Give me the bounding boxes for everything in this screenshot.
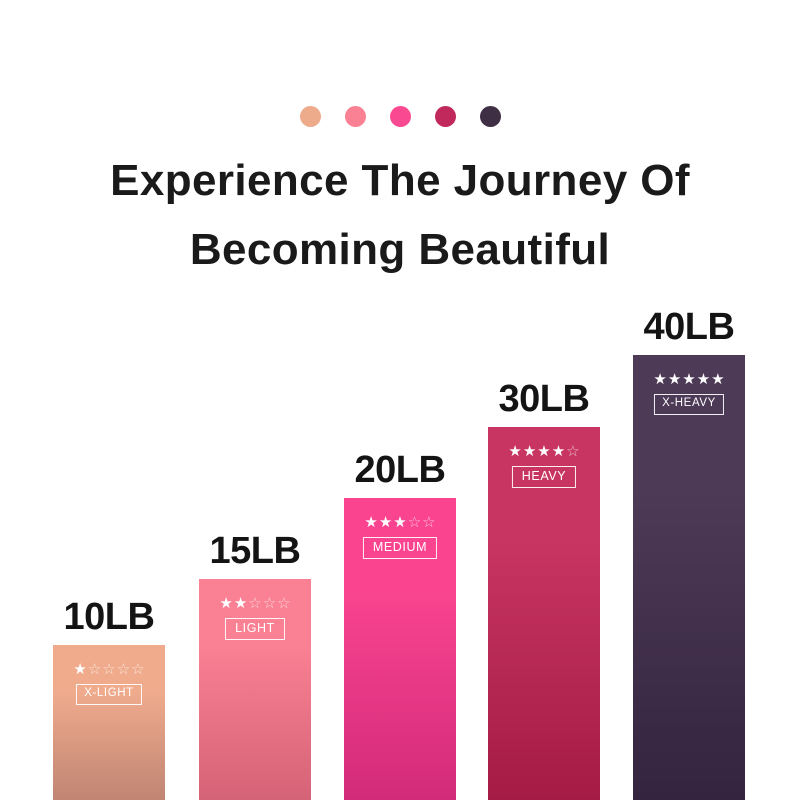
tier-label: HEAVY <box>512 466 576 488</box>
star-empty-icon: ☆ <box>566 444 579 459</box>
star-empty-icon: ☆ <box>117 662 130 677</box>
star-empty-icon: ☆ <box>131 662 144 677</box>
star-empty-icon: ☆ <box>88 662 101 677</box>
bar-badge: ★★☆☆☆LIGHT <box>208 596 302 640</box>
bar-weight-label: 30LB <box>499 378 590 421</box>
star-empty-icon: ☆ <box>263 596 276 611</box>
star-filled-icon: ★ <box>73 662 86 677</box>
bar-fill: ★★★★☆HEAVY <box>488 427 600 800</box>
star-filled-icon: ★ <box>364 515 377 530</box>
star-filled-icon: ★ <box>537 444 550 459</box>
resistance-bar-chart: 10LB★☆☆☆☆X-LIGHT15LB★★☆☆☆LIGHT20LB★★★☆☆M… <box>0 0 800 800</box>
rating-stars: ★★★★★ <box>653 372 724 387</box>
bar-fill: ★☆☆☆☆X-LIGHT <box>53 645 165 800</box>
bar-badge: ★★★★☆HEAVY <box>497 444 591 488</box>
tier-label: X-LIGHT <box>76 684 142 705</box>
star-filled-icon: ★ <box>552 444 565 459</box>
rating-stars: ★★★☆☆ <box>364 515 435 530</box>
star-filled-icon: ★ <box>219 596 232 611</box>
bar-badge: ★★★☆☆MEDIUM <box>353 515 447 559</box>
star-empty-icon: ☆ <box>248 596 261 611</box>
star-empty-icon: ☆ <box>277 596 290 611</box>
star-filled-icon: ★ <box>697 372 710 387</box>
star-filled-icon: ★ <box>682 372 695 387</box>
bar-weight-label: 10LB <box>64 596 155 639</box>
star-empty-icon: ☆ <box>102 662 115 677</box>
bar-group-30lb[interactable]: 30LB★★★★☆HEAVY <box>488 427 600 800</box>
bar-group-40lb[interactable]: 40LB★★★★★X-HEAVY <box>633 355 745 800</box>
star-filled-icon: ★ <box>234 596 247 611</box>
bar-weight-label: 40LB <box>644 306 735 349</box>
star-filled-icon: ★ <box>668 372 681 387</box>
star-filled-icon: ★ <box>711 372 724 387</box>
bar-badge: ★☆☆☆☆X-LIGHT <box>62 662 156 705</box>
star-filled-icon: ★ <box>379 515 392 530</box>
star-filled-icon: ★ <box>508 444 521 459</box>
bar-badge: ★★★★★X-HEAVY <box>642 372 736 415</box>
bar-group-15lb[interactable]: 15LB★★☆☆☆LIGHT <box>199 579 311 800</box>
star-filled-icon: ★ <box>653 372 666 387</box>
bar-fill: ★★★★★X-HEAVY <box>633 355 745 800</box>
bar-fill: ★★☆☆☆LIGHT <box>199 579 311 800</box>
promo-banner: Experience The Journey Of Becoming Beaut… <box>0 0 800 800</box>
rating-stars: ★★★★☆ <box>508 444 579 459</box>
star-filled-icon: ★ <box>523 444 536 459</box>
star-filled-icon: ★ <box>393 515 406 530</box>
bar-group-20lb[interactable]: 20LB★★★☆☆MEDIUM <box>344 498 456 800</box>
tier-label: X-HEAVY <box>654 394 724 415</box>
rating-stars: ★☆☆☆☆ <box>73 662 144 677</box>
bar-weight-label: 20LB <box>355 449 446 492</box>
bar-weight-label: 15LB <box>210 530 301 573</box>
star-empty-icon: ☆ <box>408 515 421 530</box>
bar-fill: ★★★☆☆MEDIUM <box>344 498 456 800</box>
star-empty-icon: ☆ <box>422 515 435 530</box>
tier-label: LIGHT <box>225 618 285 640</box>
rating-stars: ★★☆☆☆ <box>219 596 290 611</box>
bar-group-10lb[interactable]: 10LB★☆☆☆☆X-LIGHT <box>53 645 165 800</box>
tier-label: MEDIUM <box>363 537 437 559</box>
